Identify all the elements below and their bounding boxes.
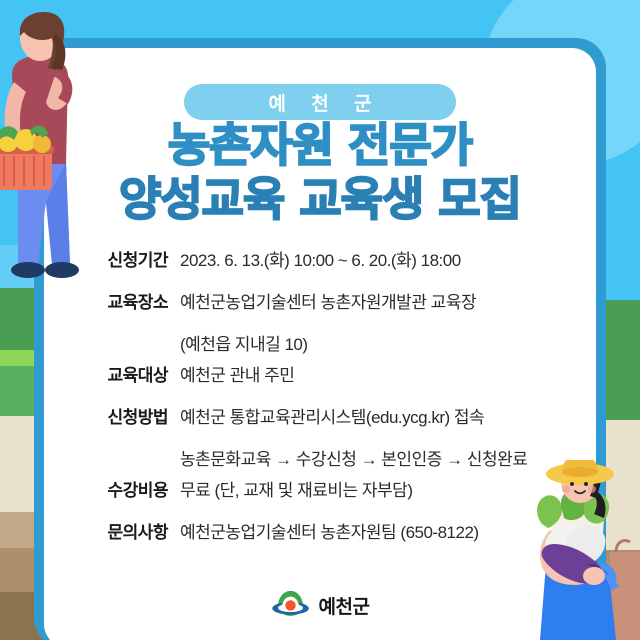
info-row-label: 교육대상 xyxy=(76,361,168,386)
info-row: 문의사항 예천군농업기술센터 농촌자원팀 (650-8122) xyxy=(76,518,586,556)
info-row: 수강비용 무료 (단, 교재 및 재료비는 자부담) xyxy=(76,476,586,514)
illustration-farmer-with-vegetables xyxy=(524,460,640,640)
info-row-label: 신청방법 xyxy=(76,403,168,428)
info-row: 신청기간 2023. 6. 13.(화) 10:00 ~ 6. 20.(화) 1… xyxy=(76,246,586,284)
info-row-label: 문의사항 xyxy=(76,518,168,543)
region-badge-label: 예 천 군 xyxy=(259,89,382,116)
info-row: 신청방법 예천군 통합교육관리시스템(edu.ycg.kr) 접속 xyxy=(76,403,586,441)
info-row-value: 2023. 6. 13.(화) 10:00 ~ 6. 20.(화) 18:00 xyxy=(168,246,586,271)
info-list: 신청기간 2023. 6. 13.(화) 10:00 ~ 6. 20.(화) 1… xyxy=(76,246,586,560)
info-row: 교육장소 예천군농업기술센터 농촌자원개발관 교육장 xyxy=(76,288,586,326)
info-row-value: 예천군 관내 주민 xyxy=(168,361,586,386)
yecheon-county-emblem-icon xyxy=(271,588,311,622)
poster-canvas: 예 천 군 농촌자원 전문가 양성교육 교육생 모집 신청기간 2023. 6.… xyxy=(0,0,640,640)
info-row-label: 수강비용 xyxy=(76,476,168,501)
info-row-sub: 농촌문화교육 → 수강신청 → 본인인증 → 신청완료 xyxy=(76,445,586,470)
region-badge: 예 천 군 xyxy=(184,84,456,120)
illustration-woman-with-basket xyxy=(0,12,126,312)
info-row-value: 예천군농업기술센터 농촌자원개발관 교육장 xyxy=(168,288,586,313)
info-row-sub: (예천읍 지내길 10) xyxy=(76,330,586,355)
footer-logo: 예천군 xyxy=(271,588,370,622)
footer-logo-label: 예천군 xyxy=(319,592,370,619)
info-row-value: 예천군 통합교육관리시스템(edu.ycg.kr) 접속 xyxy=(168,403,586,428)
info-row: 교육대상 예천군 관내 주민 xyxy=(76,361,586,399)
